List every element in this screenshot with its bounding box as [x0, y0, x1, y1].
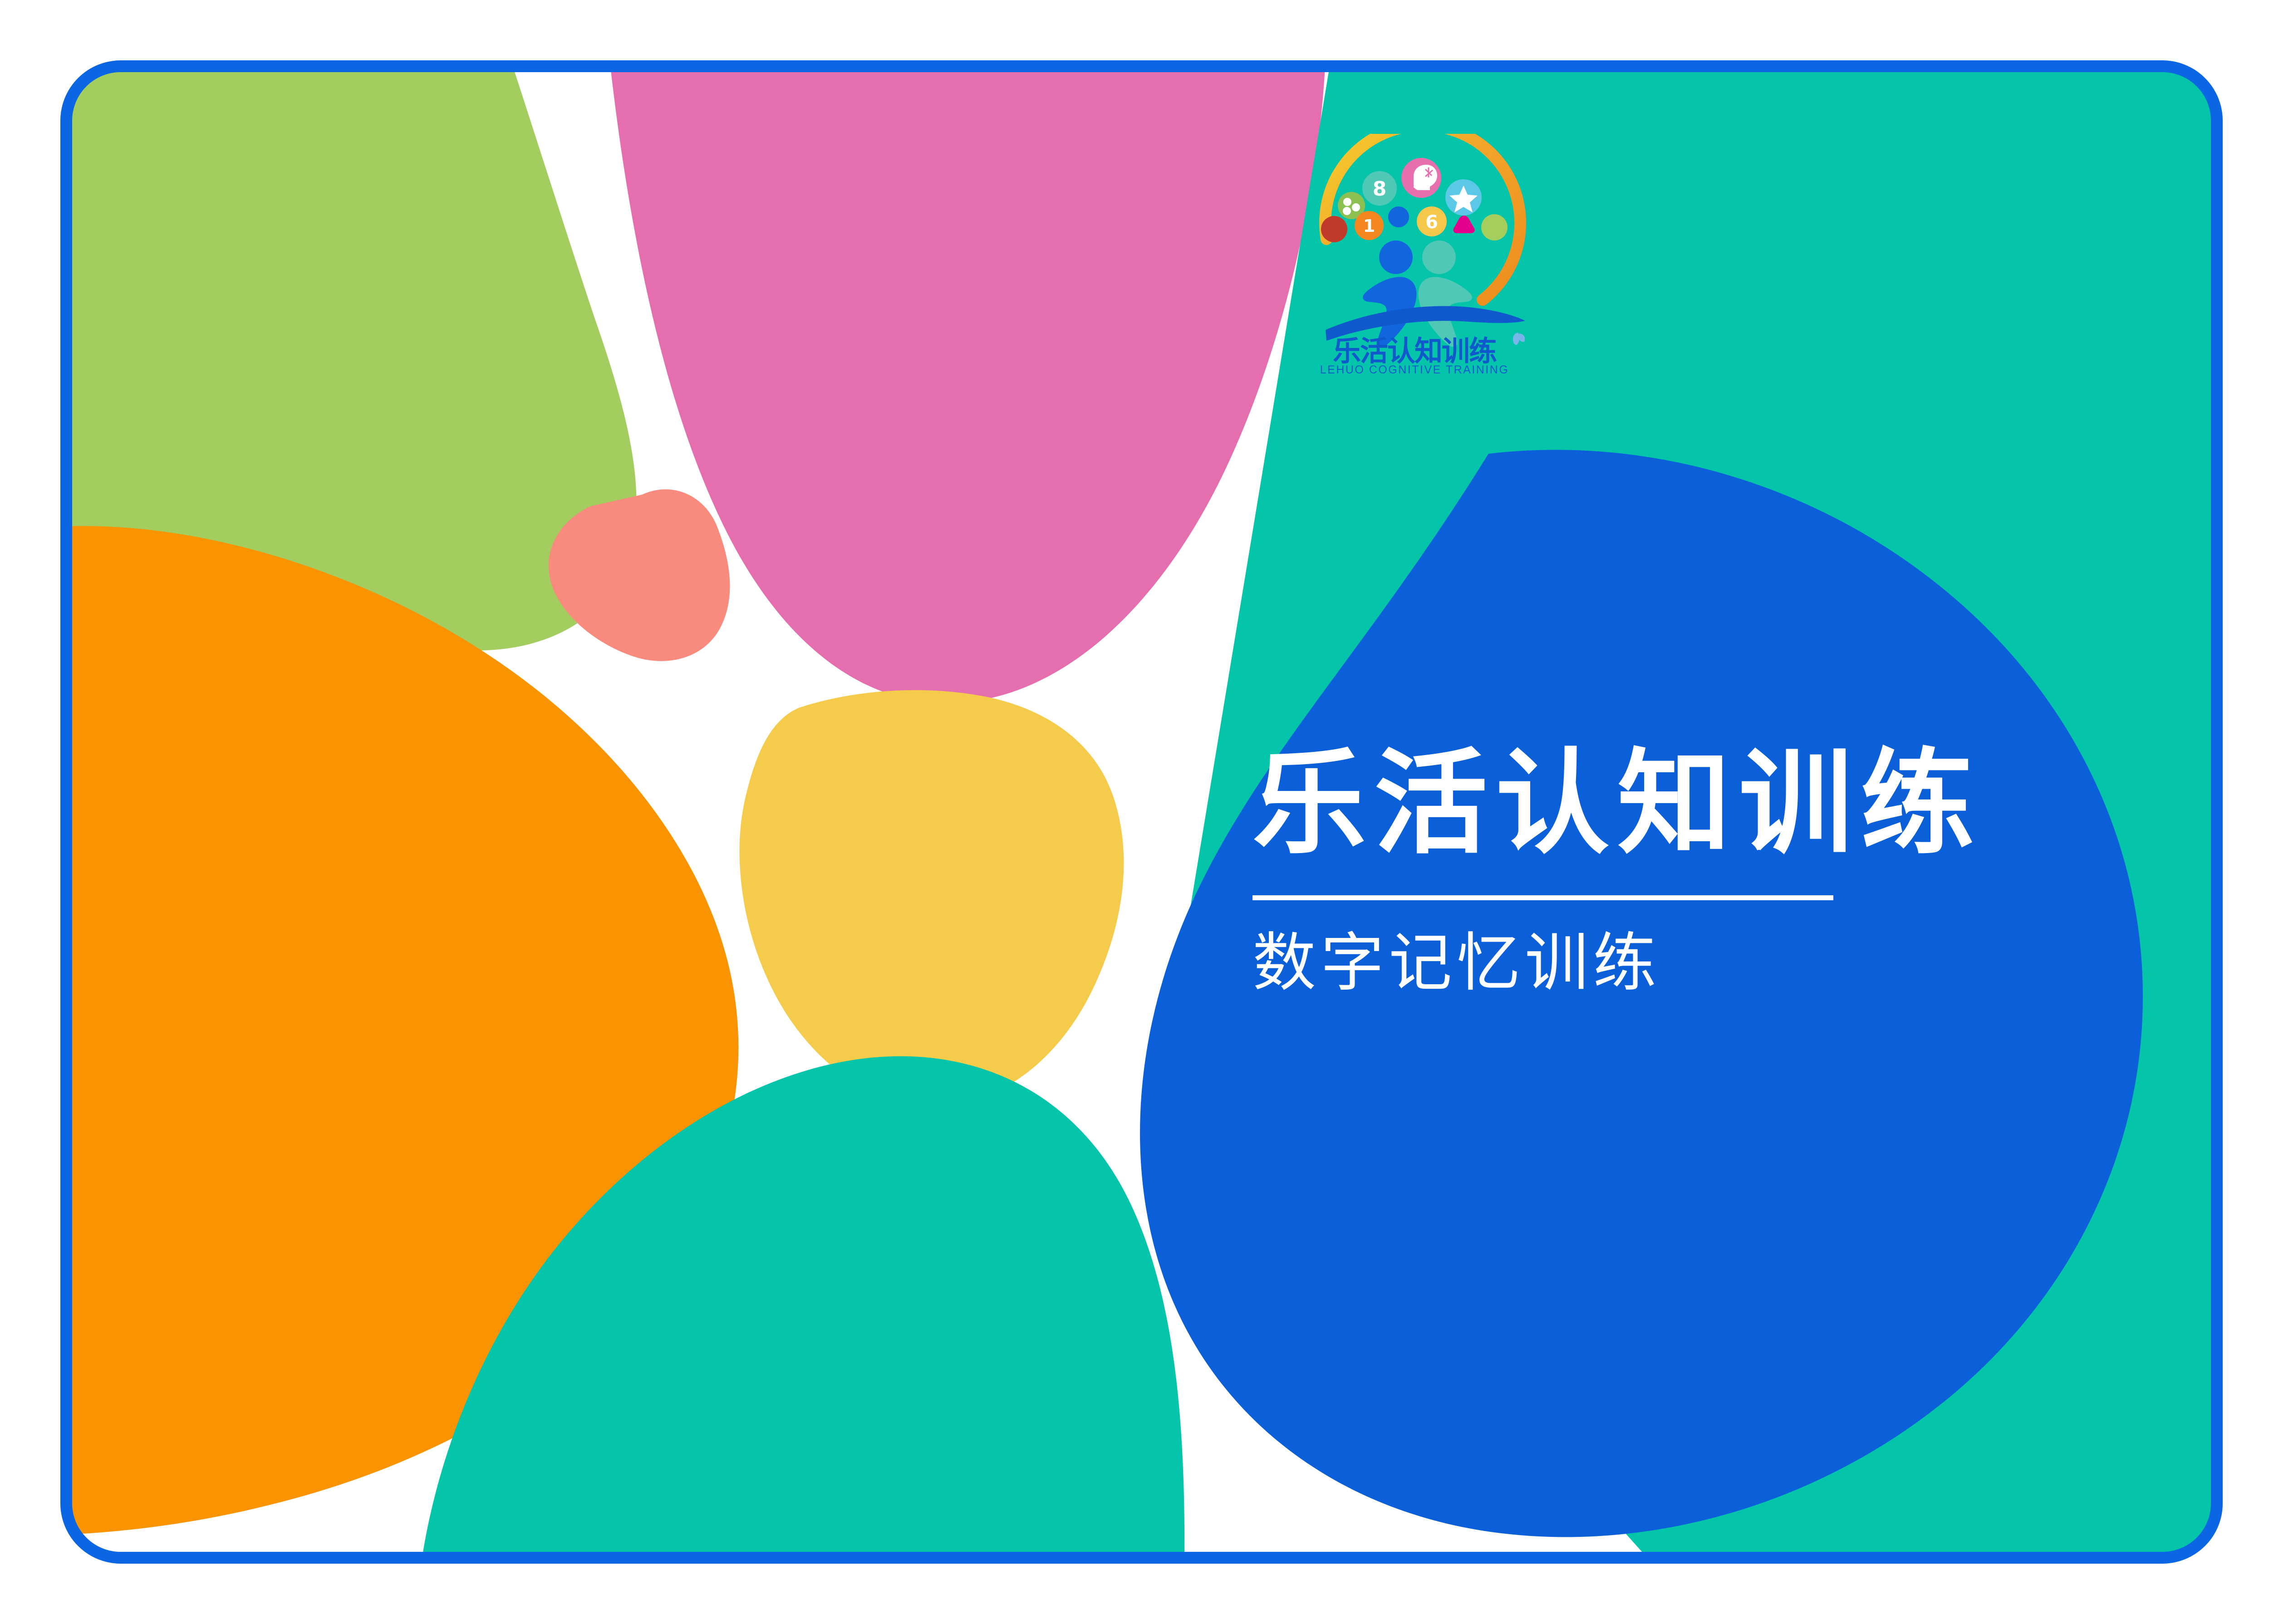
triangle-magenta-icon — [1453, 216, 1474, 233]
puzzle-dot-c — [1343, 207, 1351, 215]
dot-green-icon — [1481, 214, 1508, 240]
dot-blue-icon — [1388, 206, 1409, 227]
figure-left-head — [1379, 240, 1413, 274]
dot-dark-red-icon — [1321, 216, 1347, 242]
title-block: 乐活认知训练 数字记忆训练 — [1252, 744, 2115, 998]
digit-8-label: 8 — [1373, 177, 1387, 201]
digit-6-label: 6 — [1425, 212, 1438, 233]
brand-logo: 8 1 6 乐活认知训练 — [1300, 134, 1545, 379]
puzzle-dot-a — [1343, 198, 1351, 206]
leaf-mark-icon — [1513, 333, 1525, 345]
figure-right-head — [1422, 240, 1456, 274]
title-divider — [1252, 895, 1833, 900]
digit-1-label: 1 — [1363, 216, 1375, 236]
cover-slide: 8 1 6 乐活认知训练 — [0, 0, 2269, 1624]
puzzle-dot-b — [1352, 203, 1360, 211]
page-subtitle: 数字记忆训练 — [1252, 928, 2115, 998]
logo-brand-en: LEHUO COGNITIVE TRAINING — [1320, 363, 1509, 376]
logo-brand-cn: 乐活认知训练 — [1333, 334, 1497, 368]
page-title: 乐活认知训练 — [1252, 744, 2115, 864]
